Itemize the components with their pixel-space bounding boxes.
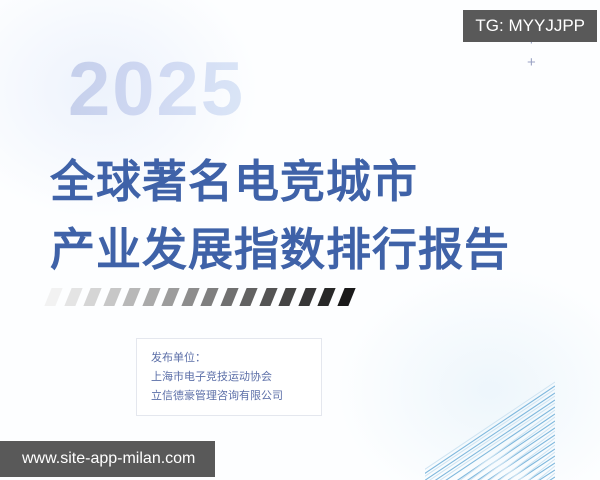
divider-stripe [85,288,105,306]
publisher-org-2: 立信德豪管理咨询有限公司 [151,387,321,406]
divider-stripe [66,288,86,306]
divider-stripe [261,288,281,306]
headline-line-2: 产业发展指数排行报告 [50,216,570,284]
telegram-watermark-badge: TG: MYYJJPP [463,10,597,42]
divider-stripe [339,288,359,306]
divider-stripe [163,288,183,306]
divider-stripe [183,288,203,306]
poster-canvas: 2025 全球著名电竞城市 产业发展指数排行报告 发布单位： 上海市电子竞技运动… [0,0,600,480]
divider-stripe [222,288,242,306]
divider-stripe [300,288,320,306]
publisher-box: 发布单位： 上海市电子竞技运动协会 立信德豪管理咨询有限公司 [136,338,322,416]
poster-headline: 全球著名电竞城市 产业发展指数排行报告 [50,148,570,284]
publisher-label: 发布单位： [151,349,321,368]
divider-stripe [124,288,144,306]
divider-stripe [144,288,164,306]
crosshair-plus-icon-bottom: + [527,55,536,70]
headline-line-1: 全球著名电竞城市 [50,148,570,216]
divider-stripe [105,288,125,306]
divider-stripe [280,288,300,306]
url-watermark-badge: www.site-app-milan.com [0,441,215,477]
divider-stripe [202,288,222,306]
divider-stripe [319,288,339,306]
striped-divider [46,288,372,306]
poster-year: 2025 [68,52,245,128]
divider-stripe [46,288,66,306]
divider-stripe [241,288,261,306]
publisher-org-1: 上海市电子竞技运动协会 [151,368,321,387]
decorative-fan-lines [425,365,555,480]
